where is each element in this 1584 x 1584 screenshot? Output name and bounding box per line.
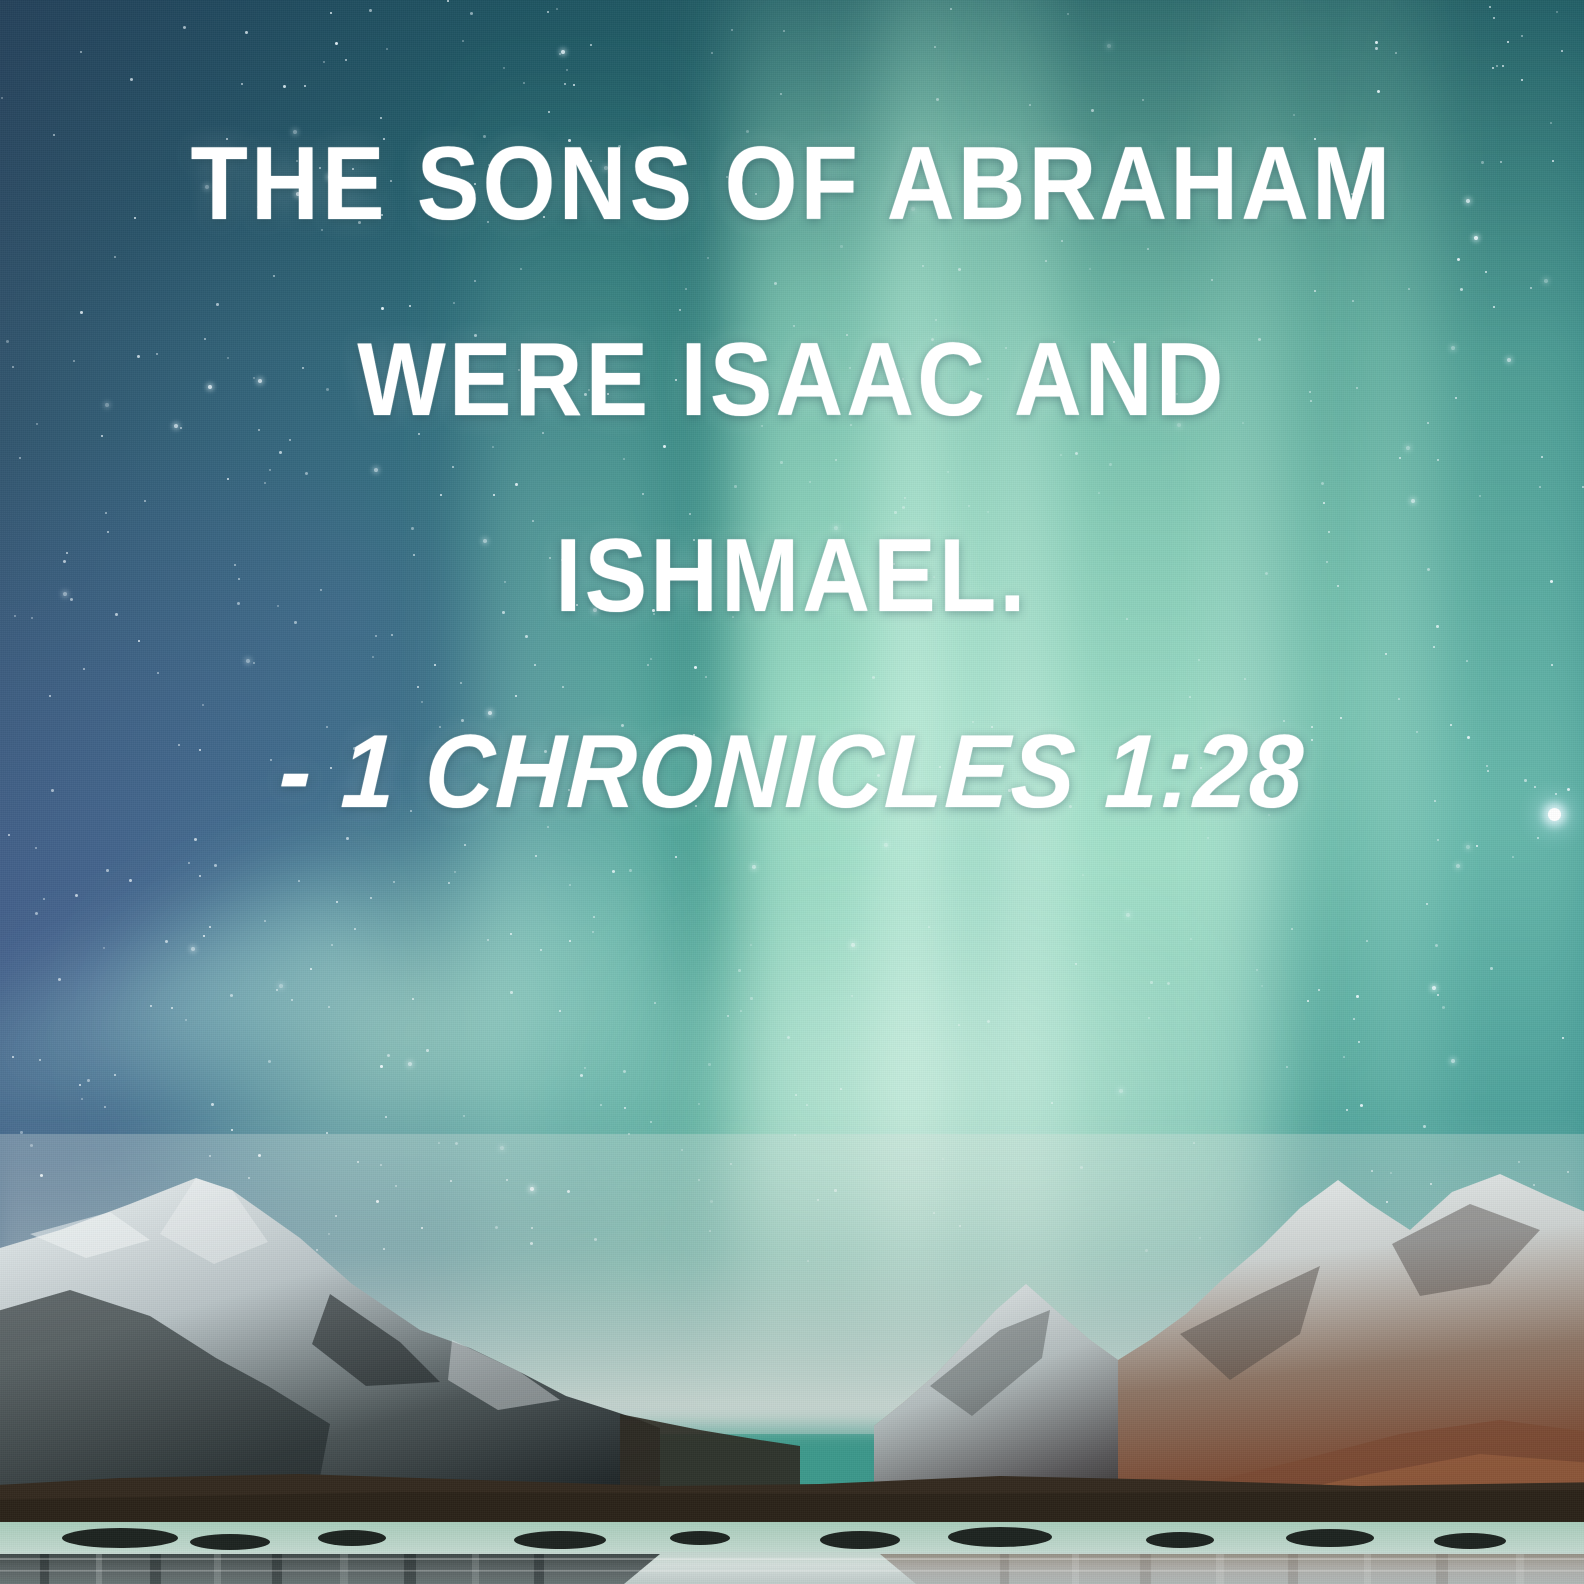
star — [592, 931, 594, 933]
star — [547, 11, 549, 13]
star — [840, 1088, 842, 1090]
star — [1442, 1006, 1445, 1009]
star — [191, 947, 195, 951]
star — [1291, 928, 1293, 930]
star — [1051, 1102, 1053, 1104]
star — [1167, 982, 1170, 985]
star — [370, 897, 372, 899]
star — [463, 1115, 465, 1117]
star — [1142, 99, 1144, 101]
star — [1029, 104, 1031, 106]
star — [787, 1036, 790, 1039]
star — [336, 901, 338, 903]
star — [171, 1007, 173, 1009]
star — [386, 48, 388, 50]
star — [1091, 109, 1094, 112]
star — [130, 78, 133, 81]
star — [884, 843, 888, 847]
star — [795, 1094, 797, 1096]
star — [573, 84, 575, 86]
mountain-landscape — [0, 1134, 1584, 1584]
star — [188, 862, 190, 864]
star — [1437, 994, 1439, 996]
star — [1343, 1056, 1345, 1058]
star — [523, 82, 525, 84]
star — [1126, 913, 1130, 917]
star — [1423, 1125, 1426, 1128]
star — [559, 1010, 561, 1012]
star — [612, 870, 615, 873]
star — [752, 865, 756, 869]
star — [103, 947, 105, 949]
star — [928, 926, 930, 928]
star — [87, 1079, 90, 1082]
star — [987, 1020, 990, 1023]
star — [1366, 940, 1368, 942]
star — [298, 880, 300, 882]
star — [559, 53, 561, 55]
star — [81, 1098, 83, 1100]
star — [369, 9, 372, 12]
star — [199, 875, 201, 877]
star — [203, 935, 205, 937]
star — [851, 943, 855, 947]
star — [35, 847, 37, 849]
star — [129, 879, 132, 882]
star — [1496, 65, 1498, 67]
star — [106, 869, 109, 872]
star — [1476, 845, 1478, 847]
verse-line-3: ISHMAEL. — [142, 524, 1442, 628]
star — [548, 111, 550, 113]
star — [629, 869, 632, 872]
star — [330, 12, 332, 14]
star — [510, 933, 512, 935]
star — [75, 894, 78, 897]
star — [1067, 13, 1069, 15]
star — [623, 1070, 626, 1073]
star — [600, 1104, 602, 1106]
verse-image-canvas: THE SONS OF ABRAHAM WERE ISAAC AND ISHMA… — [0, 0, 1584, 1584]
star — [380, 1065, 383, 1068]
star — [1075, 963, 1077, 965]
star — [1521, 79, 1523, 81]
star — [79, 1084, 81, 1086]
star — [1360, 1104, 1363, 1107]
star — [448, 882, 450, 884]
star — [564, 83, 566, 85]
star — [264, 920, 266, 922]
star — [780, 93, 782, 95]
star — [1466, 845, 1470, 849]
star — [209, 926, 211, 928]
star — [934, 46, 936, 48]
star — [58, 978, 61, 981]
star — [851, 995, 853, 997]
star — [230, 994, 233, 997]
star — [194, 838, 197, 841]
star — [624, 1107, 626, 1109]
verse-attribution: - 1 CHRONICLES 1:28 — [125, 720, 1458, 824]
star — [1493, 17, 1495, 19]
star — [231, 1129, 233, 1131]
star — [43, 898, 45, 900]
star — [1556, 11, 1558, 13]
star — [385, 1116, 387, 1118]
star — [1550, 122, 1552, 124]
star — [654, 1002, 656, 1004]
star — [958, 1024, 960, 1026]
star — [1082, 874, 1084, 876]
star — [750, 997, 753, 1000]
star — [1207, 837, 1209, 839]
verse-line-1: THE SONS OF ABRAHAM — [142, 132, 1442, 236]
star — [335, 42, 338, 45]
star — [510, 991, 513, 994]
star — [1502, 65, 1504, 67]
star — [393, 881, 395, 883]
star — [540, 949, 542, 951]
star — [1377, 90, 1380, 93]
star — [241, 83, 243, 85]
star — [426, 1049, 429, 1052]
star — [580, 1074, 583, 1077]
star — [1307, 1000, 1309, 1002]
star — [211, 1103, 214, 1106]
star — [323, 61, 325, 63]
star — [675, 856, 677, 858]
star — [1395, 52, 1397, 54]
star — [936, 98, 939, 101]
star — [185, 1019, 187, 1021]
star — [462, 40, 464, 42]
star — [1561, 50, 1563, 52]
star — [806, 1104, 808, 1106]
star — [708, 1063, 711, 1066]
star — [1107, 44, 1111, 48]
verse-line-2: WERE ISAAC AND — [142, 328, 1442, 432]
star — [593, 916, 595, 918]
star — [150, 1005, 152, 1007]
star — [487, 939, 489, 941]
star — [1318, 989, 1320, 991]
star — [470, 12, 473, 15]
star — [345, 59, 347, 61]
star — [731, 29, 733, 31]
star — [279, 984, 283, 988]
star — [310, 968, 312, 970]
star — [1537, 837, 1539, 839]
star — [727, 1015, 729, 1017]
star — [1492, 67, 1494, 69]
star — [35, 912, 38, 915]
star — [1286, 1066, 1288, 1068]
star — [8, 834, 10, 836]
star — [1489, 6, 1491, 8]
star — [1435, 944, 1438, 947]
star — [783, 30, 785, 32]
verse-text-block: THE SONS OF ABRAHAM WERE ISAAC AND ISHMA… — [0, 132, 1584, 824]
star — [183, 26, 186, 29]
star — [1426, 903, 1428, 905]
star — [1346, 1109, 1348, 1111]
star — [556, 8, 558, 10]
star — [80, 51, 82, 53]
star — [454, 871, 456, 873]
star — [1119, 1089, 1123, 1093]
star — [569, 940, 571, 942]
star — [328, 1006, 330, 1008]
star — [711, 52, 713, 54]
star — [412, 998, 414, 1000]
star — [698, 1103, 700, 1105]
star — [503, 67, 505, 69]
star — [165, 940, 168, 943]
star — [331, 944, 333, 946]
star — [1150, 981, 1153, 984]
star — [245, 31, 248, 34]
star — [1451, 1059, 1455, 1063]
star — [584, 1067, 586, 1069]
star — [1437, 839, 1439, 841]
star — [408, 1062, 412, 1066]
star — [387, 1054, 390, 1057]
star — [738, 969, 741, 972]
star — [283, 85, 286, 88]
star — [566, 69, 568, 71]
star — [650, 1121, 652, 1123]
star — [750, 944, 752, 946]
star — [1353, 1018, 1355, 1020]
star — [1356, 995, 1359, 998]
star — [304, 85, 306, 87]
star — [291, 999, 293, 1001]
star — [380, 117, 382, 119]
star — [1148, 1017, 1150, 1019]
star — [569, 884, 571, 886]
star — [1507, 41, 1509, 43]
star — [1358, 1041, 1360, 1043]
star — [1375, 47, 1378, 50]
star — [1562, 1037, 1564, 1039]
star — [114, 1074, 116, 1076]
star — [1432, 986, 1436, 990]
star — [354, 928, 356, 930]
star — [464, 844, 466, 846]
star — [1521, 35, 1523, 37]
star — [535, 855, 537, 857]
star — [561, 50, 565, 54]
star — [1256, 969, 1258, 971]
star — [1456, 864, 1460, 868]
star — [104, 1106, 106, 1108]
star — [276, 989, 278, 991]
star — [39, 1059, 41, 1061]
star — [1, 97, 3, 99]
star — [950, 8, 952, 10]
star — [346, 837, 349, 840]
star — [268, 1060, 271, 1063]
star — [740, 1010, 742, 1012]
star — [447, 0, 449, 2]
star — [590, 44, 592, 46]
star — [1190, 938, 1192, 940]
star — [1261, 985, 1263, 987]
star — [12, 1056, 14, 1058]
star — [1375, 41, 1378, 44]
star — [1512, 856, 1514, 858]
star — [1293, 114, 1295, 116]
star — [1490, 967, 1493, 970]
star — [214, 864, 217, 867]
